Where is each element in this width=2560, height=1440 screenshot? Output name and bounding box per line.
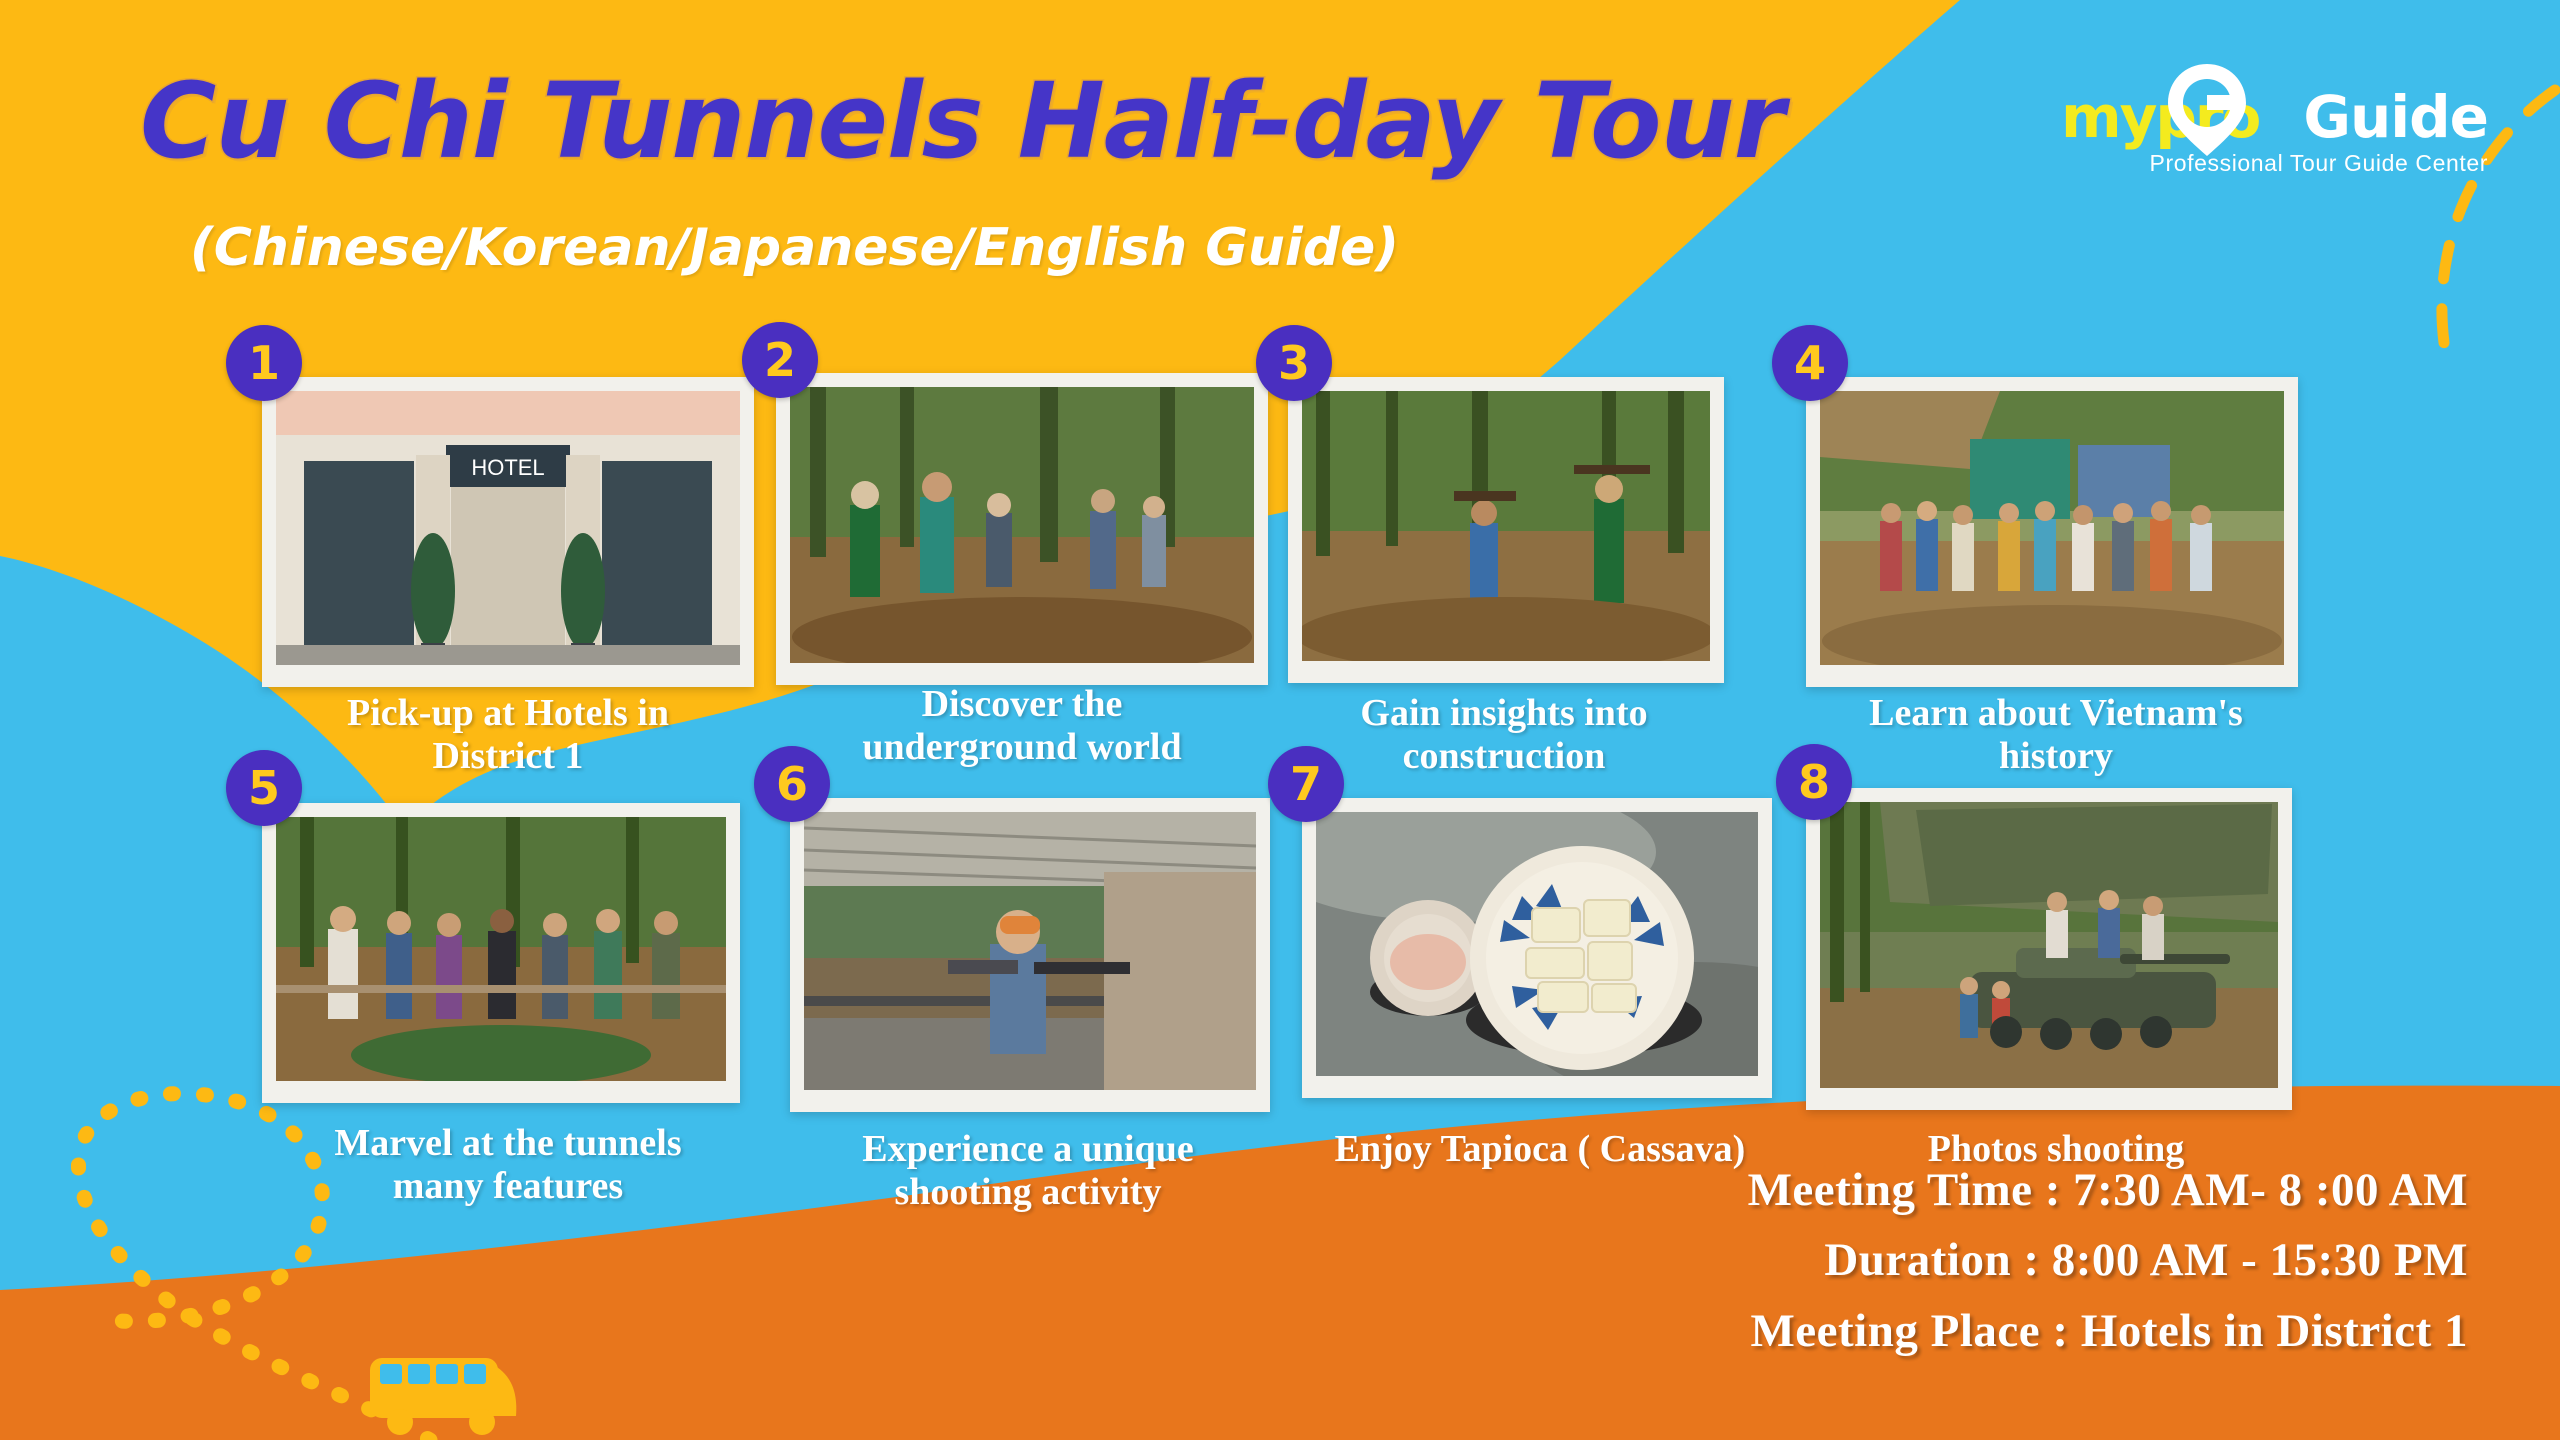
meeting-place-text: Meeting Place : Hotels in District 1	[1748, 1296, 2468, 1367]
tunnel-features-photo	[276, 817, 726, 1081]
tunnel-group-photo	[790, 387, 1254, 663]
photo-frame-1: HOTEL	[262, 377, 754, 687]
photo-frame-2	[776, 373, 1268, 685]
tapioca-dish-photo	[1316, 812, 1758, 1076]
photo-frame-6	[790, 798, 1270, 1112]
step-badge-2: 2	[742, 322, 818, 398]
step-caption-5: Marvel at the tunnels many features	[232, 1122, 784, 1207]
photo-frame-5	[262, 803, 740, 1103]
svg-text:HOTEL: HOTEL	[471, 455, 544, 480]
history-display-photo	[1820, 391, 2284, 665]
step-caption-7: Enjoy Tapioca ( Cassava)	[1262, 1128, 1818, 1171]
step-badge-3: 3	[1256, 325, 1332, 401]
step-badge-5: 5	[226, 750, 302, 826]
photo-frame-3	[1288, 377, 1724, 683]
step-badge-6: 6	[754, 746, 830, 822]
step-badge-7: 7	[1268, 746, 1344, 822]
step-caption-1: Pick-up at Hotels in District 1	[232, 692, 784, 777]
step-caption-6: Experience a unique shooting activity	[752, 1128, 1304, 1213]
page-title: Cu Chi Tunnels Half-day Tour	[140, 60, 1784, 182]
photo-frame-4	[1806, 377, 2298, 687]
page-subtitle: (Chinese/Korean/Japanese/English Guide)	[190, 218, 1399, 278]
brand-logo[interactable]: mypro Guide Professional Tour Guide Cent…	[2116, 74, 2488, 182]
map-pin-icon	[2164, 62, 2250, 158]
tour-info-panel: Meeting Time : 7:30 AM- 8 :00 AM Duratio…	[1748, 1155, 2468, 1367]
poster-canvas: Cu Chi Tunnels Half-day Tour (Chinese/Ko…	[0, 0, 2560, 1440]
step-badge-4: 4	[1772, 325, 1848, 401]
hotel-facade-photo: HOTEL	[276, 391, 740, 665]
step-caption-2: Discover the underground world	[746, 683, 1298, 768]
logo-wordmark: mypro Guide	[2116, 74, 2488, 146]
photo-frame-7	[1302, 798, 1772, 1098]
step-caption-4: Learn about Vietnam's history	[1778, 692, 2334, 777]
logo-guide-text: Guide	[2303, 88, 2488, 146]
photo-frame-8	[1806, 788, 2292, 1110]
tank-photos-photo	[1820, 802, 2278, 1088]
step-badge-8: 8	[1776, 744, 1852, 820]
tunnel-construction-photo	[1302, 391, 1710, 661]
meeting-time-text: Meeting Time : 7:30 AM- 8 :00 AM	[1748, 1155, 2468, 1226]
shooting-range-photo	[804, 812, 1256, 1090]
duration-text: Duration : 8:00 AM - 15:30 PM	[1748, 1225, 2468, 1296]
step-badge-1: 1	[226, 325, 302, 401]
